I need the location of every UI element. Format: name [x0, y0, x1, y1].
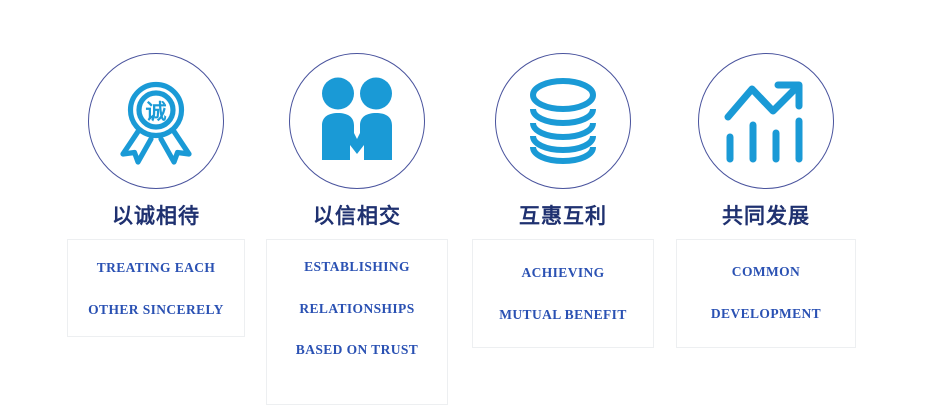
medal-character: 诚	[146, 100, 167, 124]
icon-circle-1: 诚	[88, 53, 224, 189]
feature-column-4: 共同发展 COMMON DEVELOPMENT	[656, 0, 876, 348]
feature-line: RELATIONSHIPS	[299, 302, 414, 316]
feature-title-4: 共同发展	[722, 206, 810, 227]
feature-title-3: 互惠互利	[519, 206, 607, 227]
feature-column-3: 互惠互利 ACHIEVING MUTUAL BENEFIT	[453, 0, 673, 348]
feature-textbox-1: TREATING EACH OTHER SINCERELY	[67, 239, 245, 337]
feature-line: DEVELOPMENT	[711, 307, 821, 321]
handshake-people-icon	[309, 75, 405, 167]
feature-line: MUTUAL BENEFIT	[499, 308, 627, 322]
icon-circle-2	[289, 53, 425, 189]
feature-textbox-4: COMMON DEVELOPMENT	[676, 239, 856, 348]
feature-textbox-2: ESTABLISHING RELATIONSHIPS BASED ON TRUS…	[266, 239, 448, 405]
feature-line: ACHIEVING	[521, 266, 604, 280]
feature-textbox-3: ACHIEVING MUTUAL BENEFIT	[472, 239, 654, 348]
icon-circle-4	[698, 53, 834, 189]
feature-line: BASED ON TRUST	[296, 343, 418, 357]
feature-line: TREATING EACH	[97, 261, 216, 275]
icon-circle-3	[495, 53, 631, 189]
feature-line: OTHER SINCERELY	[88, 303, 224, 317]
medal-ribbon-icon: 诚	[110, 75, 202, 167]
feature-column-2: 以信相交 ESTABLISHING RELATIONSHIPS BASED ON…	[247, 0, 467, 405]
coin-stack-icon	[518, 76, 608, 166]
growth-chart-arrow-icon	[720, 75, 812, 167]
feature-line: COMMON	[732, 265, 800, 279]
feature-title-2: 以信相交	[313, 206, 401, 227]
feature-column-1: 诚 以诚相待 TREATING EACH OTHER SINCERELY	[46, 0, 266, 337]
feature-line: ESTABLISHING	[304, 260, 410, 274]
feature-title-1: 以诚相待	[112, 206, 200, 227]
values-feature-row: 诚 以诚相待 TREATING EACH OTHER SINCERELY	[0, 0, 944, 411]
